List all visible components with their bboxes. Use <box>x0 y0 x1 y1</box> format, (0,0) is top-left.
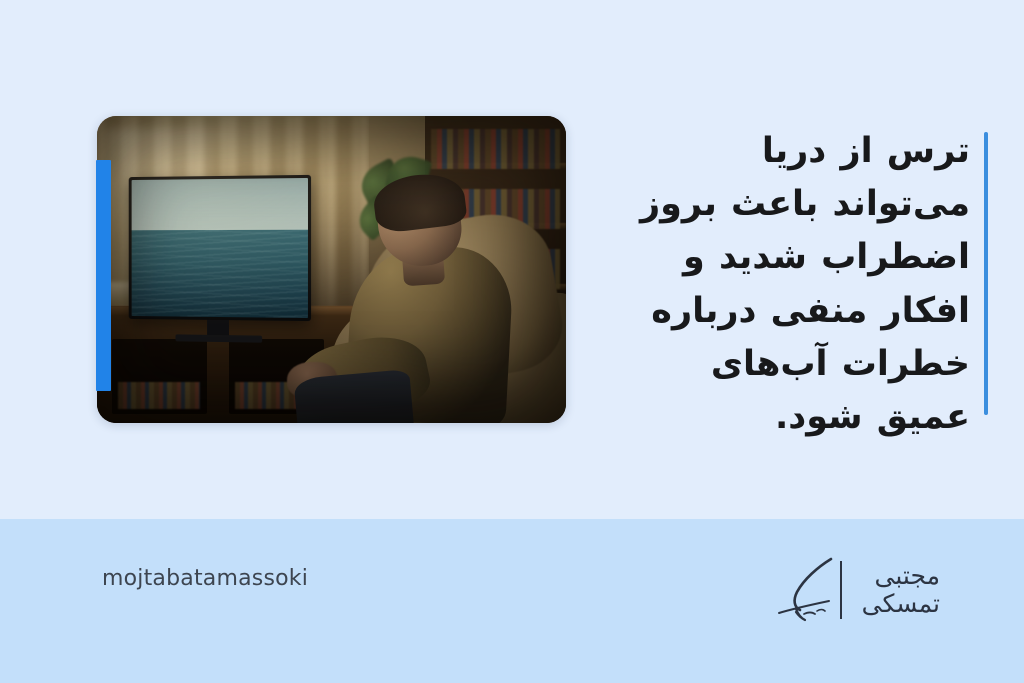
headline-text: ترس از دریا می‌تواند باعث بروز اضطراب شد… <box>630 125 970 444</box>
headline-block: ترس از دریا می‌تواند باعث بروز اضطراب شد… <box>630 125 970 444</box>
tv-screen-ocean <box>132 178 308 318</box>
calligraphy-signature-icon <box>774 552 838 628</box>
room-scene <box>97 116 566 423</box>
brand-wordmark: مجتبی تمسکی <box>850 562 940 618</box>
photo-card: مردی نشسته روی مبل در حال تماشای تصویر د… <box>97 116 566 423</box>
ocean-waves <box>132 230 308 318</box>
headline-accent-rule <box>984 132 988 415</box>
brand-divider <box>840 561 842 619</box>
footer-bar: mojtabatamassoki مجتبی تمسکی <box>0 519 1024 683</box>
television <box>129 175 311 322</box>
brand-line-bottom: تمسکی <box>862 590 940 618</box>
brand-logo[interactable]: مجتبی تمسکی <box>774 549 940 631</box>
infographic-card: مردی نشسته روی مبل در حال تماشای تصویر د… <box>0 0 1024 683</box>
tv-stand-neck <box>208 320 230 336</box>
blue-accent-bar <box>96 160 111 391</box>
scene-photo: مردی نشسته روی مبل در حال تماشای تصویر د… <box>97 116 566 423</box>
main-panel: مردی نشسته روی مبل در حال تماشای تصویر د… <box>0 0 1024 519</box>
tv-stand-base <box>176 334 263 343</box>
brand-line-top: مجتبی <box>875 562 940 590</box>
ocean-sky <box>132 178 308 230</box>
social-handle[interactable]: mojtabatamassoki <box>102 566 308 591</box>
seated-man <box>308 177 514 423</box>
